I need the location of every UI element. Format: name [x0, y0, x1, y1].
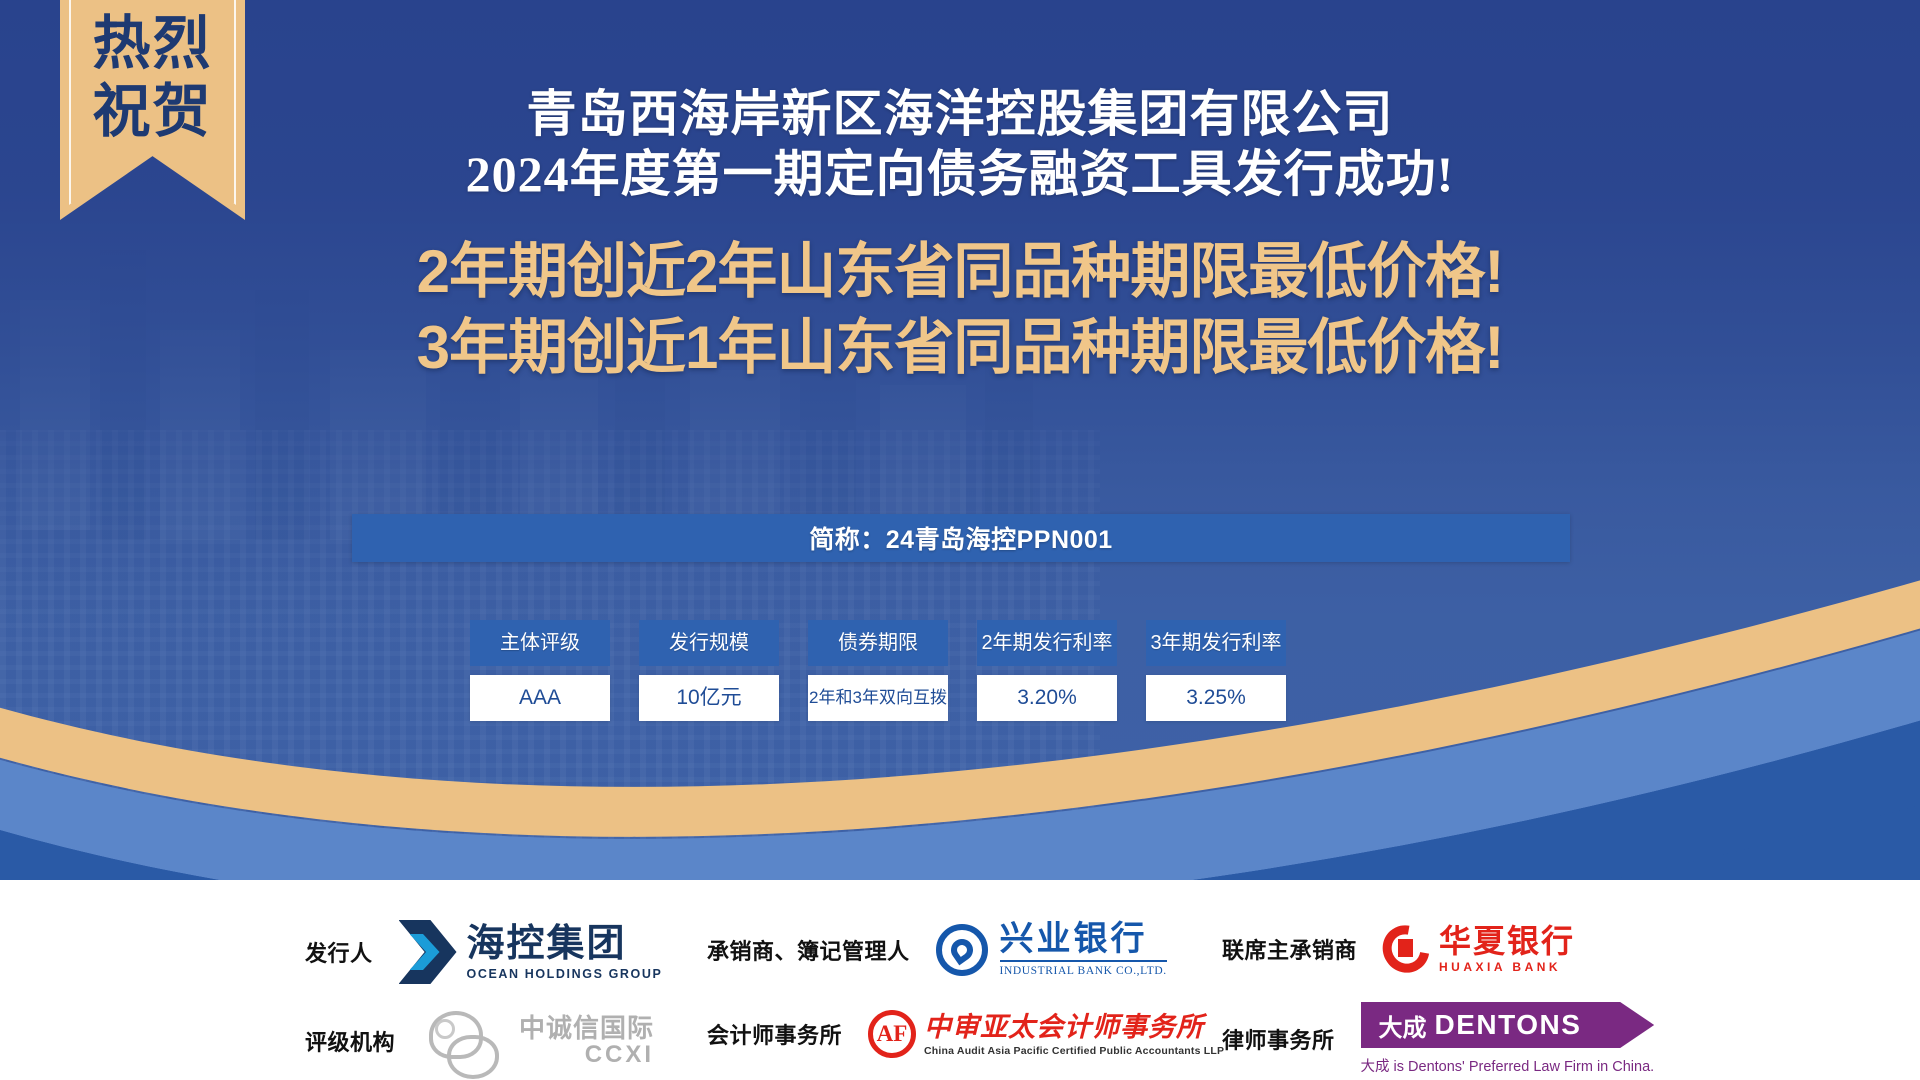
info-box-term: 债券期限 2年和3年双向互拨 [808, 620, 948, 721]
footer-issuer: 发行人 海控集团 OCEAN HOLDINGS GROUP [305, 920, 662, 984]
info-box-rate-2y: 2年期发行利率 3.20% [977, 620, 1117, 721]
ccxi-name-en: CCXI [585, 1042, 654, 1068]
ocean-holdings-logo: 海控集团 OCEAN HOLDINGS GROUP [399, 920, 663, 984]
ribbon-text-line1: 热烈 [60, 10, 245, 78]
footer-joint-underwriter: 联席主承销商 华夏银行 HUAXIA BANK [1222, 924, 1575, 974]
dentons-name-en: DENTONS [1435, 1009, 1582, 1041]
caap-name-en: China Audit Asia Pacific Certified Publi… [924, 1045, 1224, 1057]
industrial-bank-logo: 兴业银行 INDUSTRIAL BANK CO.,LTD. [936, 922, 1167, 977]
caap-logo: AF 中审亚太会计师事务所 China Audit Asia Pacific C… [868, 1010, 1224, 1058]
footer-accountant-label: 会计师事务所 [707, 1018, 842, 1050]
abbreviation-bar: 简称：24青岛海控PPN001 [352, 514, 1570, 562]
huaxia-bank-name-cn: 华夏银行 [1439, 924, 1575, 958]
poster-root: 热烈 祝贺 青岛西海岸新区海洋控股集团有限公司 2024年度第一期定向债务融资工… [0, 0, 1920, 1080]
info-box-label: 主体评级 [470, 620, 610, 666]
info-box-value: 3.25% [1146, 675, 1286, 721]
industrial-bank-name-en: INDUSTRIAL BANK CO.,LTD. [1000, 965, 1167, 977]
industrial-bank-name-cn: 兴业银行 [1000, 922, 1167, 962]
page-title: 青岛西海岸新区海洋控股集团有限公司 2024年度第一期定向债务融资工具发行成功! [0, 84, 1920, 204]
info-box-group: 主体评级 AAA 发行规模 10亿元 债券期限 2年和3年双向互拨 2年期发行利… [470, 620, 1490, 730]
ocean-holdings-mark-icon [399, 920, 457, 984]
footer-partners: 发行人 海控集团 OCEAN HOLDINGS GROUP 承销商、簿记管理人 [0, 880, 1920, 1080]
highlight-headlines: 2年期创近2年山东省同品种期限最低价格! 3年期创近1年山东省同品种期限最低价格… [0, 234, 1920, 386]
footer-accountant: 会计师事务所 AF 中审亚太会计师事务所 China Audit Asia Pa… [707, 1010, 1224, 1058]
ccxi-logo: 中诚信国际 CCXI [421, 1005, 654, 1077]
info-box-value: 2年和3年双向互拨 [808, 675, 948, 721]
ccxi-name-cn: 中诚信国际 [519, 1014, 654, 1042]
footer-rating-agency-label: 评级机构 [305, 1025, 395, 1057]
caap-mark-icon: AF [868, 1010, 916, 1058]
footer-lawyer-label: 律师事务所 [1222, 1023, 1335, 1055]
abbreviation-text: 简称：24青岛海控PPN001 [809, 520, 1112, 556]
footer-rating-agency: 评级机构 中诚信国际 CCXI [305, 1005, 654, 1077]
dentons-name-cn: 大成 [1379, 1008, 1427, 1043]
industrial-bank-mark-icon [936, 924, 988, 976]
footer-issuer-label: 发行人 [305, 936, 373, 968]
caap-name-cn: 中审亚太会计师事务所 [924, 1012, 1224, 1042]
info-box-rate-3y: 3年期发行利率 3.25% [1146, 620, 1286, 721]
title-line-1: 青岛西海岸新区海洋控股集团有限公司 [0, 84, 1920, 144]
ccxi-mark-icon [421, 1005, 513, 1077]
info-box-label: 债券期限 [808, 620, 948, 666]
info-box-scale: 发行规模 10亿元 [639, 620, 779, 721]
huaxia-bank-name-en: HUAXIA BANK [1439, 960, 1575, 974]
huaxia-bank-logo: 华夏银行 HUAXIA BANK [1383, 924, 1575, 974]
ocean-holdings-name-cn: 海控集团 [467, 924, 663, 964]
info-box-label: 发行规模 [639, 620, 779, 666]
footer-lawyer: 律师事务所 大成 DENTONS 大成 is Dentons' Preferre… [1222, 1002, 1654, 1076]
info-box-value: AAA [470, 675, 610, 721]
ocean-holdings-name-en: OCEAN HOLDINGS GROUP [467, 967, 663, 981]
dentons-badge: 大成 DENTONS [1361, 1002, 1655, 1048]
footer-joint-underwriter-label: 联席主承销商 [1222, 933, 1357, 965]
highlight-line-1: 2年期创近2年山东省同品种期限最低价格! [0, 234, 1920, 310]
title-line-2: 2024年度第一期定向债务融资工具发行成功! [0, 144, 1920, 204]
info-box-label: 2年期发行利率 [977, 620, 1117, 666]
huaxia-bank-mark-icon [1383, 925, 1429, 973]
footer-underwriter-label: 承销商、簿记管理人 [707, 934, 910, 966]
highlight-line-2: 3年期创近1年山东省同品种期限最低价格! [0, 310, 1920, 386]
info-box-label: 3年期发行利率 [1146, 620, 1286, 666]
info-box-value: 10亿元 [639, 675, 779, 721]
footer-underwriter: 承销商、簿记管理人 兴业银行 INDUSTRIAL BANK CO.,LTD. [707, 922, 1167, 977]
dentons-logo: 大成 DENTONS 大成 is Dentons' Preferred Law … [1361, 1002, 1655, 1076]
dentons-tagline: 大成 is Dentons' Preferred Law Firm in Chi… [1361, 1055, 1655, 1076]
info-box-value: 3.20% [977, 675, 1117, 721]
info-box-rating: 主体评级 AAA [470, 620, 610, 721]
